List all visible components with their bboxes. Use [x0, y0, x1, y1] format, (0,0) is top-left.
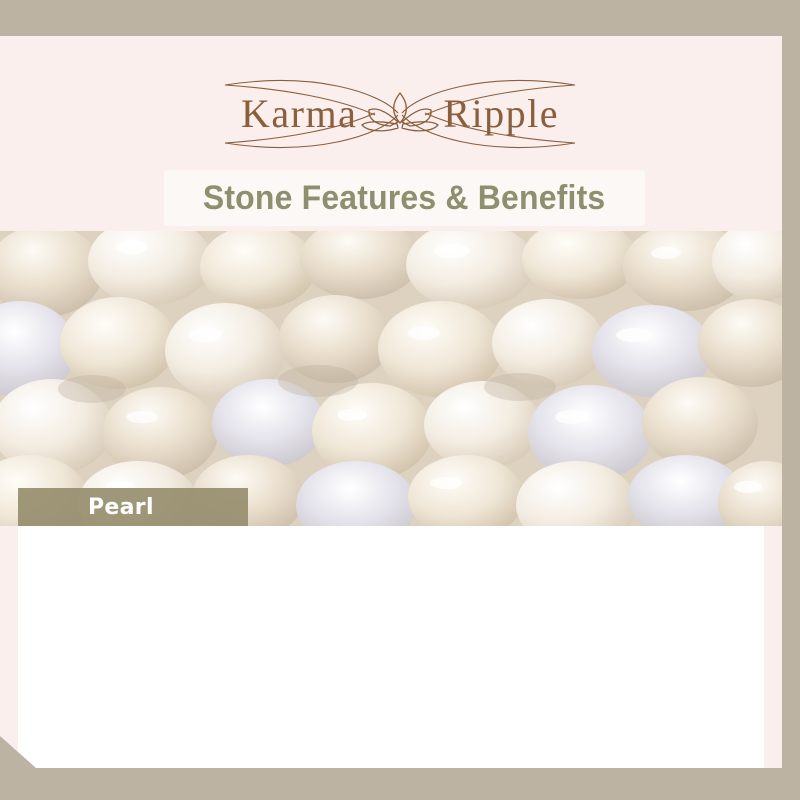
- stone-name-text: Pearl: [18, 495, 154, 520]
- stone-photo: [0, 231, 782, 526]
- content-card: Karma Ripple Stone Features & Benefits: [0, 36, 782, 768]
- logo-word-left: Karma: [241, 94, 357, 134]
- corner-accent-top-right: [764, 0, 800, 36]
- logo-word-right: Ripple: [443, 94, 559, 134]
- page-title: Stone Features & Benefits: [203, 179, 606, 218]
- infographic-page: Karma Ripple Stone Features & Benefits: [0, 0, 800, 800]
- page-title-band: Stone Features & Benefits: [164, 170, 645, 226]
- brand-logo: Karma Ripple: [0, 72, 782, 156]
- stone-name-label: Pearl: [18, 488, 248, 526]
- description-panel: ★ Healing ★ Wisdom ★ Optimism ★ Sincerit…: [18, 526, 764, 768]
- pearl-photo-image: [0, 231, 782, 526]
- corner-accent-bottom-left: [0, 736, 36, 768]
